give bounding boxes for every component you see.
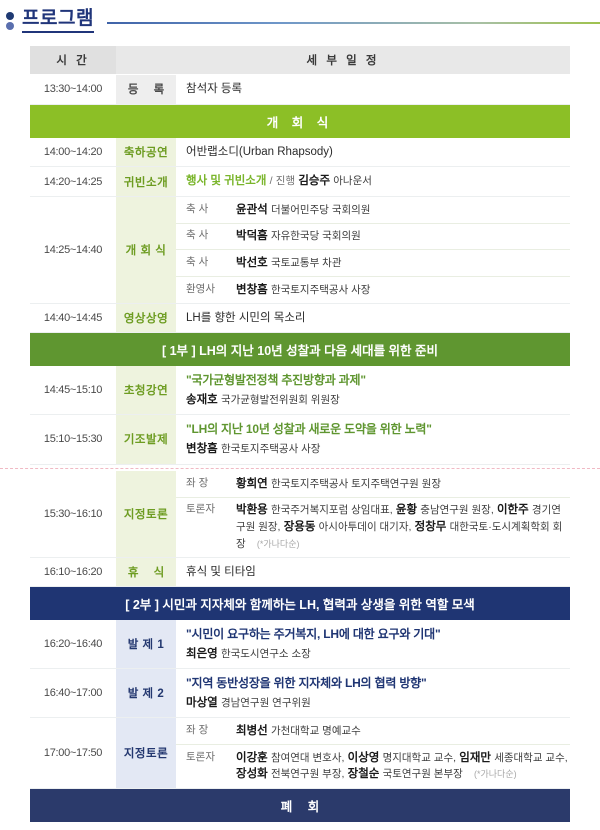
panelist-affiliation: 세종대학교 교수, [494,752,567,764]
row-detail: "국가균형발전정책 추진방향과 과제" 송재호 국가균형발전위원회 위원장 [176,366,570,415]
row-category: 기조발제 [116,415,176,464]
speaker-name: 최은영 [186,648,218,660]
talk-speaker: 변창흠 한국토지주택공사 사장 [186,441,566,458]
row-category: 축하공연 [116,138,176,167]
speaker-affiliation: 국토교통부 차관 [271,257,342,269]
table-row: 16:20~16:40 발 제 1 "시민이 요구하는 주거복지, LH에 대한… [30,620,570,669]
table-row: 14:20~14:25 귀빈소개 행사 및 귀빈소개 / 진행 김승주 아나운서 [30,167,570,197]
chair-info: 최병선 가천대학교 명예교수 [232,718,570,744]
row-detail: "시민이 요구하는 주거복지, LH에 대한 요구와 기대" 최은영 한국도시연… [176,620,570,669]
table-row-panel: 15:30~16:10 지정토론 좌 장 황희연 한국토지주택공사 토지주택연구… [30,471,570,557]
speaker-affiliation: 더불어민주당 국회의원 [271,204,371,216]
speaker-affiliation: 한국토지주택공사 사장 [221,443,321,455]
row-time: 16:40~17:00 [30,669,116,718]
panelist-affiliation: 충남연구원 원장, [420,504,493,516]
row-detail: 휴식 및 티타임 [176,557,570,587]
speaker-info: 변창흠 한국토지주택공사 사장 [232,277,570,303]
speaker-role: 환영사 [176,277,232,303]
row-time: 14:45~15:10 [30,366,116,415]
row-detail: "지역 동반성장을 위한 지자체와 LH의 협력 방향" 마상열 경남연구원 연… [176,669,570,718]
section-band-label: 폐 회 [30,788,570,822]
panelist-name: 이상영 [348,752,380,764]
panelist-name: 이강훈 [236,752,268,764]
header-detail: 세 부 일 정 [116,46,570,75]
speaker-list: 축 사 윤관석 더불어민주당 국회의원 축 사 박덕흠 자유한국당 국회의원 [176,197,570,303]
row-category: 등 록 [116,75,176,105]
talk-speaker: 최은영 한국도시연구소 소장 [186,646,566,663]
row-category: 개 회 식 [116,197,176,304]
speaker-name: 박선호 [236,257,268,269]
row-category: 귀빈소개 [116,167,176,197]
table-row: 14:00~14:20 축하공연 어반랩소디(Urban Rhapsody) [30,138,570,167]
page-header: 프로그램 [0,0,600,40]
speaker-role: 축 사 [176,223,232,250]
panelist-name: 임재만 [459,752,491,764]
talk-speaker: 마상열 경남연구원 연구위원 [186,695,566,712]
section-band-label: [ 2부 ] 시민과 지자체와 함께하는 LH, 협력과 상생을 위한 역할 모… [30,587,570,621]
row-time: 14:40~14:45 [30,303,116,333]
page-break-row [30,464,570,471]
table-row: 14:45~15:10 초청강연 "국가균형발전정책 추진방향과 과제" 송재호… [30,366,570,415]
list-item: 축 사 박덕흠 자유한국당 국회의원 [176,223,570,250]
panelist-name: 이한주 [497,504,529,516]
order-note: (*가나다순) [257,539,300,549]
row-category: 초청강연 [116,366,176,415]
section-band-label: [ 1부 ] LH의 지난 10년 성찰과 다음 세대를 위한 준비 [30,333,570,367]
chair-affiliation: 가천대학교 명예교수 [271,725,361,737]
table-header-row: 시 간 세 부 일 정 [30,46,570,75]
title-gradient-rule [107,22,600,24]
row-category: 휴 식 [116,557,176,587]
panelist-info: 박환용 한국주거복지포럼 상임대표, 윤황 충남연구원 원장, 이한주 경기연구… [232,497,570,557]
speaker-affiliation: 한국토지주택공사 사장 [271,284,371,296]
panelist-affiliation: 한국주거복지포럼 상임대표, [271,504,393,516]
speaker-name: 마상열 [186,697,218,709]
list-item: 축 사 박선호 국토교통부 차관 [176,250,570,277]
speaker-role: 축 사 [176,197,232,223]
panelist-name: 박환용 [236,504,268,516]
speaker-role: 축 사 [176,250,232,277]
header-time: 시 간 [30,46,116,75]
mc-affiliation: 아나운서 [333,175,372,187]
page-break-dashed-line [0,468,600,469]
panelist-name: 장철순 [348,768,380,780]
chair-role: 좌 장 [176,471,232,497]
panelist-affiliation: 명지대학교 교수, [383,752,456,764]
panelist-name: 장용동 [284,521,316,533]
row-time: 16:20~16:40 [30,620,116,669]
double-dot-icon [6,11,15,31]
panelist-name: 장성화 [236,768,268,780]
speaker-affiliation: 경남연구원 연구위원 [221,697,311,709]
table-row: 13:30~14:00 등 록 참석자 등록 [30,75,570,105]
list-item: 좌 장 최병선 가천대학교 명예교수 [176,718,570,744]
speaker-info: 박선호 국토교통부 차관 [232,250,570,277]
talk-title: "시민이 요구하는 주거복지, LH에 대한 요구와 기대" [186,626,566,643]
row-time: 14:25~14:40 [30,197,116,304]
section-band-part1: [ 1부 ] LH의 지난 10년 성찰과 다음 세대를 위한 준비 [30,333,570,367]
mc-main-label: 행사 및 귀빈소개 [186,175,266,187]
panel-role: 토론자 [176,497,232,557]
row-time: 17:00~17:50 [30,718,116,788]
page-break-cell [30,464,570,471]
speaker-name: 송재호 [186,394,218,406]
panelist-name: 윤황 [396,504,417,516]
speaker-affiliation: 자유한국당 국회의원 [271,230,361,242]
chair-info: 황희연 한국토지주택공사 토지주택연구원 원장 [232,471,570,497]
panel-list: 좌 장 황희연 한국토지주택공사 토지주택연구원 원장 토론자 박환용 한국주거… [176,471,570,557]
list-item: 환영사 변창흠 한국토지주택공사 사장 [176,277,570,303]
speaker-name: 변창흠 [186,443,218,455]
row-detail: 축 사 윤관석 더불어민주당 국회의원 축 사 박덕흠 자유한국당 국회의원 [176,197,570,304]
row-time: 14:20~14:25 [30,167,116,197]
row-category: 발 제 1 [116,620,176,669]
panelist-affiliation: 전북연구원 부장, [271,768,344,780]
row-time: 16:10~16:20 [30,557,116,587]
list-item: 축 사 윤관석 더불어민주당 국회의원 [176,197,570,223]
list-item: 토론자 이강훈 참여연대 변호사, 이상영 명지대학교 교수, 임재만 세종대학… [176,745,570,788]
speaker-info: 박덕흠 자유한국당 국회의원 [232,223,570,250]
row-detail: 참석자 등록 [176,75,570,105]
speaker-name: 박덕흠 [236,230,268,242]
row-category: 지정토론 [116,718,176,788]
chair-name: 최병선 [236,725,268,737]
section-band-label: 개 회 식 [30,104,570,138]
program-schedule-table: 시 간 세 부 일 정 13:30~14:00 등 록 참석자 등록 개 회 식… [30,46,570,822]
speaker-name: 윤관석 [236,204,268,216]
talk-speaker: 송재호 국가균형발전위원회 위원장 [186,392,566,409]
speaker-info: 윤관석 더불어민주당 국회의원 [232,197,570,223]
speaker-affiliation: 국가균형발전위원회 위원장 [221,394,340,406]
chair-role: 좌 장 [176,718,232,744]
row-detail: "LH의 지난 10년 성찰과 새로운 도약을 위한 노력" 변창흠 한국토지주… [176,415,570,464]
mc-name: 김승주 [298,175,330,187]
talk-title: "LH의 지난 10년 성찰과 새로운 도약을 위한 노력" [186,421,566,438]
row-time: 15:10~15:30 [30,415,116,464]
section-band-part2: [ 2부 ] 시민과 지자체와 함께하는 LH, 협력과 상생을 위한 역할 모… [30,587,570,621]
row-category: 발 제 2 [116,669,176,718]
row-detail: 행사 및 귀빈소개 / 진행 김승주 아나운서 [176,167,570,197]
order-note: (*가나다순) [474,769,517,779]
table-row: 15:10~15:30 기조발제 "LH의 지난 10년 성찰과 새로운 도약을… [30,415,570,464]
panelist-affiliation: 국토연구원 본부장 [383,768,463,780]
mc-separator: / [270,175,273,187]
chair-name: 황희연 [236,478,268,490]
panel-list: 좌 장 최병선 가천대학교 명예교수 토론자 이강훈 참여연대 변호사, [176,718,570,787]
panelist-name: 정창무 [415,521,447,533]
list-item: 토론자 박환용 한국주거복지포럼 상임대표, 윤황 충남연구원 원장, 이한주 … [176,497,570,557]
chair-affiliation: 한국토지주택공사 토지주택연구원 원장 [271,478,441,490]
panelist-affiliation: 참여연대 변호사, [271,752,344,764]
row-time: 13:30~14:00 [30,75,116,105]
row-category: 지정토론 [116,471,176,557]
list-item: 좌 장 황희연 한국토지주택공사 토지주택연구원 원장 [176,471,570,497]
section-band-closing: 폐 회 [30,788,570,822]
mc-role: 진행 [276,175,295,187]
page-title: 프로그램 [22,8,94,33]
table-row-speakers: 14:25~14:40 개 회 식 축 사 윤관석 더불어민주당 국회의원 [30,197,570,304]
row-detail: LH를 향한 시민의 목소리 [176,303,570,333]
table-row: 14:40~14:45 영상상영 LH를 향한 시민의 목소리 [30,303,570,333]
row-time: 15:30~16:10 [30,471,116,557]
talk-title: "국가균형발전정책 추진방향과 과제" [186,372,566,389]
row-category: 영상상영 [116,303,176,333]
table-row-panel: 17:00~17:50 지정토론 좌 장 최병선 가천대학교 명예교수 [30,718,570,788]
speaker-name: 변창흠 [236,284,268,296]
table-row: 16:10~16:20 휴 식 휴식 및 티타임 [30,557,570,587]
row-detail: 어반랩소디(Urban Rhapsody) [176,138,570,167]
row-time: 14:00~14:20 [30,138,116,167]
row-detail: 좌 장 최병선 가천대학교 명예교수 토론자 이강훈 참여연대 변호사, [176,718,570,788]
talk-title: "지역 동반성장을 위한 지자체와 LH의 협력 방향" [186,675,566,692]
speaker-affiliation: 한국도시연구소 소장 [221,648,311,660]
panelist-info: 이강훈 참여연대 변호사, 이상영 명지대학교 교수, 임재만 세종대학교 교수… [232,745,570,788]
table-row: 16:40~17:00 발 제 2 "지역 동반성장을 위한 지자체와 LH의 … [30,669,570,718]
panel-role: 토론자 [176,745,232,788]
panelist-affiliation: 아시아투데이 대기자, [319,521,412,533]
row-detail: 좌 장 황희연 한국토지주택공사 토지주택연구원 원장 토론자 박환용 한국주거… [176,471,570,557]
section-band-opening: 개 회 식 [30,104,570,138]
